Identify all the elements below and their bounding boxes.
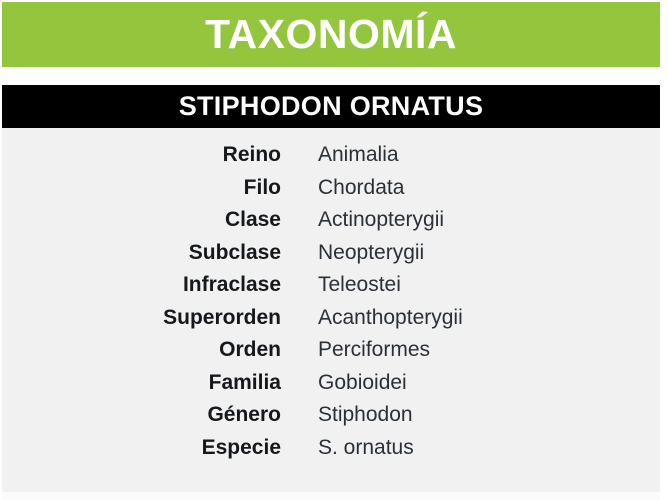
species-name-banner: STIPHODON ORNATUS (2, 85, 660, 128)
rank-label: Subclase (2, 237, 281, 270)
rank-value: Neopterygii (281, 237, 660, 270)
table-row: Filo Chordata (2, 172, 660, 205)
species-name: STIPHODON ORNATUS (179, 93, 484, 120)
rank-label: Género (2, 399, 281, 432)
rank-value: Chordata (281, 172, 660, 205)
bottom-divider (2, 492, 660, 500)
rank-value: S. ornatus (281, 432, 660, 465)
page-title: TAXONOMÍA (205, 14, 457, 55)
taxonomy-table: Reino Animalia Filo Chordata Clase Actin… (2, 139, 660, 464)
rank-value: Actinopterygii (281, 204, 660, 237)
table-row: Clase Actinopterygii (2, 204, 660, 237)
rank-label: Orden (2, 334, 281, 367)
taxonomy-card: TAXONOMÍA STIPHODON ORNATUS Reino Animal… (0, 0, 668, 500)
rank-value: Acanthopterygii (281, 302, 660, 335)
table-row: Orden Perciformes (2, 334, 660, 367)
table-row: Familia Gobioidei (2, 367, 660, 400)
taxonomy-body: Reino Animalia Filo Chordata Clase Actin… (2, 128, 660, 492)
rank-label: Clase (2, 204, 281, 237)
rank-value: Stiphodon (281, 399, 660, 432)
rank-label: Especie (2, 432, 281, 465)
rank-label: Reino (2, 139, 281, 172)
rank-label: Filo (2, 172, 281, 205)
table-row: Subclase Neopterygii (2, 237, 660, 270)
rank-value: Animalia (281, 139, 660, 172)
table-row: Infraclase Teleostei (2, 269, 660, 302)
table-row: Superorden Acanthopterygii (2, 302, 660, 335)
rank-label: Infraclase (2, 269, 281, 302)
rank-label: Familia (2, 367, 281, 400)
rank-value: Teleostei (281, 269, 660, 302)
rank-value: Perciformes (281, 334, 660, 367)
taxonomy-title-banner: TAXONOMÍA (2, 2, 660, 67)
table-row: Género Stiphodon (2, 399, 660, 432)
table-row: Reino Animalia (2, 139, 660, 172)
taxonomy-table-body: Reino Animalia Filo Chordata Clase Actin… (2, 139, 660, 464)
table-row: Especie S. ornatus (2, 432, 660, 465)
rank-label: Superorden (2, 302, 281, 335)
rank-value: Gobioidei (281, 367, 660, 400)
